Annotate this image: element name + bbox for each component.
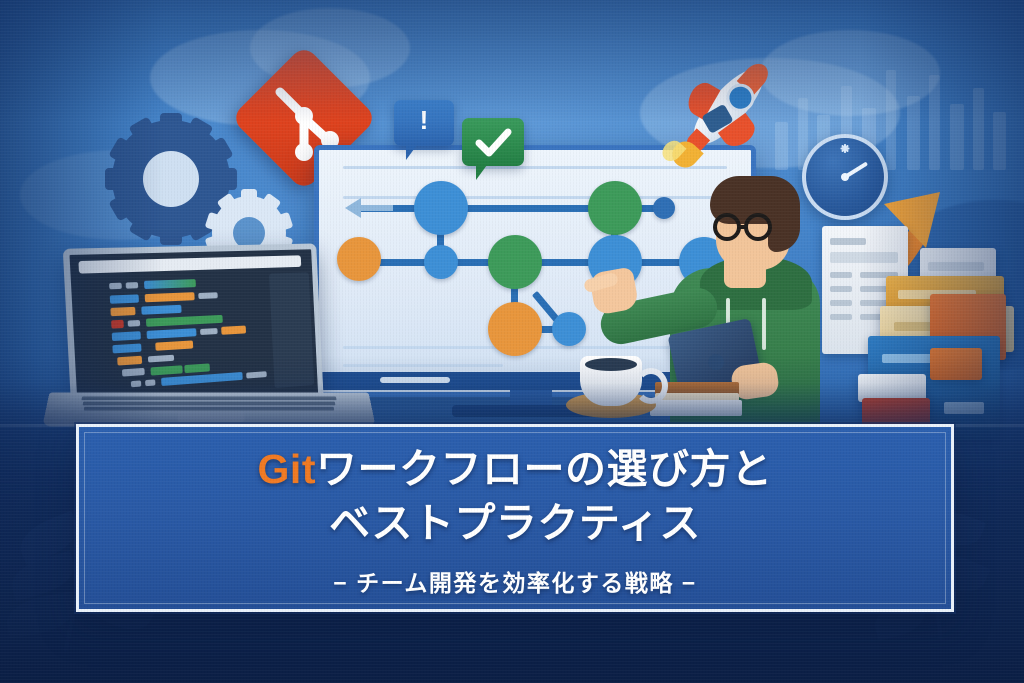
subtitle: − チーム開発を効率化する戦略 − (79, 564, 951, 598)
title-line-2: ベストプラクティス (79, 499, 951, 547)
title-card: Gitワークフローの選び方と ベストプラクティス − チーム開発を効率化する戦略… (76, 424, 954, 612)
title-text-block: Gitワークフローの選び方と ベストプラクティス − チーム開発を効率化する戦略… (79, 445, 951, 598)
title-line-1-rest: ワークフローの選び方と (316, 446, 773, 492)
hero-banner: ! (0, 0, 1024, 683)
title-accent: Git (258, 446, 316, 492)
title-line-1: Gitワークフローの選び方と (79, 445, 951, 493)
